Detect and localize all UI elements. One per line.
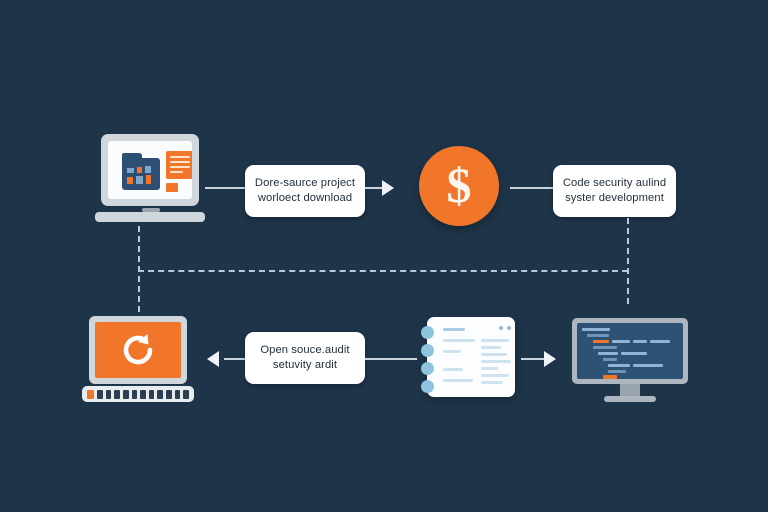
code-line xyxy=(582,328,610,331)
code-line xyxy=(633,340,647,343)
keyboard-key xyxy=(114,390,120,399)
laptop-refresh-screen xyxy=(95,322,181,378)
code-line xyxy=(608,370,626,373)
node-dollar-coin[interactable]: $ xyxy=(419,146,499,226)
document-text-line xyxy=(170,166,190,168)
keyboard-key xyxy=(123,390,129,399)
keyboard-key xyxy=(175,390,181,399)
box-audit-line2: setuvity ardit xyxy=(253,358,357,373)
checklist-dot-icon xyxy=(499,326,503,330)
checklist-text-line xyxy=(443,379,473,382)
arrow-left-icon xyxy=(207,351,219,367)
checklist-text-line xyxy=(481,374,509,377)
node-monitor-code[interactable] xyxy=(572,318,688,402)
dashed-line-horizontal xyxy=(138,270,628,272)
folder-chip-2 xyxy=(137,167,142,173)
box-development-line1: Code security aulind xyxy=(561,176,668,191)
checklist-bullet xyxy=(421,344,434,357)
checklist-text-line xyxy=(481,353,507,356)
folder-icon xyxy=(122,158,160,190)
keyboard-key xyxy=(132,390,138,399)
checklist-text-line xyxy=(443,368,463,371)
box-download-line1: Dore-saurce project xyxy=(253,176,357,191)
folder-chip-4 xyxy=(127,177,133,184)
document-text-line xyxy=(170,156,190,158)
keyboard-key-accent xyxy=(87,390,94,399)
dashed-line-right xyxy=(627,218,629,304)
dollar-symbol: $ xyxy=(447,160,472,210)
node-checklist[interactable] xyxy=(427,317,515,397)
box-development-line2: syster development xyxy=(561,191,668,206)
keyboard-key xyxy=(140,390,146,399)
code-line xyxy=(608,364,630,367)
arrow-right-icon xyxy=(382,180,394,196)
keyboard-key xyxy=(106,390,112,399)
monitor-frame xyxy=(572,318,688,384)
code-line xyxy=(621,352,647,355)
folder-chip-6 xyxy=(146,175,151,184)
dashed-line-left xyxy=(138,226,140,312)
document-small-icon xyxy=(166,183,178,192)
box-download[interactable]: Dore-saurce project worloect download xyxy=(245,165,365,217)
checklist-bullet xyxy=(421,362,434,375)
node-laptop-refresh[interactable] xyxy=(82,316,194,402)
code-line-highlight xyxy=(603,375,617,379)
laptop-screen xyxy=(108,141,192,199)
laptop-base xyxy=(95,212,205,222)
checklist-text-line xyxy=(443,328,465,331)
code-line-highlight xyxy=(593,340,609,343)
code-line xyxy=(650,340,670,343)
code-line xyxy=(633,364,663,367)
box-development[interactable]: Code security aulind syster development xyxy=(553,165,676,217)
connector-audit-to-laptop xyxy=(224,358,246,360)
node-laptop-source[interactable] xyxy=(95,134,205,226)
monitor-foot xyxy=(604,396,656,402)
folder-chip-1 xyxy=(127,168,134,173)
arrow-right-icon xyxy=(544,351,556,367)
code-line xyxy=(593,346,617,349)
connector-laptop-to-download xyxy=(205,187,245,189)
checklist-text-line xyxy=(443,339,475,342)
checklist-text-line xyxy=(481,381,503,384)
keyboard-key xyxy=(166,390,172,399)
keyboard-key xyxy=(97,390,103,399)
code-line xyxy=(612,340,630,343)
box-download-line2: worloect download xyxy=(253,191,357,206)
document-text-line xyxy=(170,161,190,163)
keyboard-key xyxy=(183,390,189,399)
checklist-bullet xyxy=(421,326,434,339)
laptop-refresh-frame xyxy=(89,316,187,384)
checklist-text-line xyxy=(443,350,461,353)
checklist-text-line xyxy=(481,360,511,363)
connector-coin-to-development xyxy=(510,187,554,189)
diagram-canvas: Dore-saurce project worloect download $ … xyxy=(0,0,768,512)
code-line xyxy=(598,352,618,355)
connector-checklist-to-audit xyxy=(365,358,417,360)
monitor-screen xyxy=(577,323,683,379)
code-line xyxy=(603,358,617,361)
checklist-bullet xyxy=(421,380,434,393)
checklist-text-line xyxy=(481,346,501,349)
checklist-dot-icon xyxy=(507,326,511,330)
laptop-screen-frame xyxy=(101,134,199,206)
laptop-keyboard xyxy=(82,386,194,402)
checklist-text-line xyxy=(481,367,498,370)
checklist-text-line xyxy=(481,339,509,342)
box-audit-line1: Open souce.audit xyxy=(253,343,357,358)
document-text-line xyxy=(170,171,183,173)
folder-chip-3 xyxy=(145,166,151,173)
keyboard-key xyxy=(157,390,163,399)
box-audit[interactable]: Open souce.audit setuvity ardit xyxy=(245,332,365,384)
keyboard-key xyxy=(149,390,155,399)
code-line xyxy=(587,334,609,337)
refresh-icon xyxy=(118,330,158,370)
folder-chip-5 xyxy=(136,176,143,184)
